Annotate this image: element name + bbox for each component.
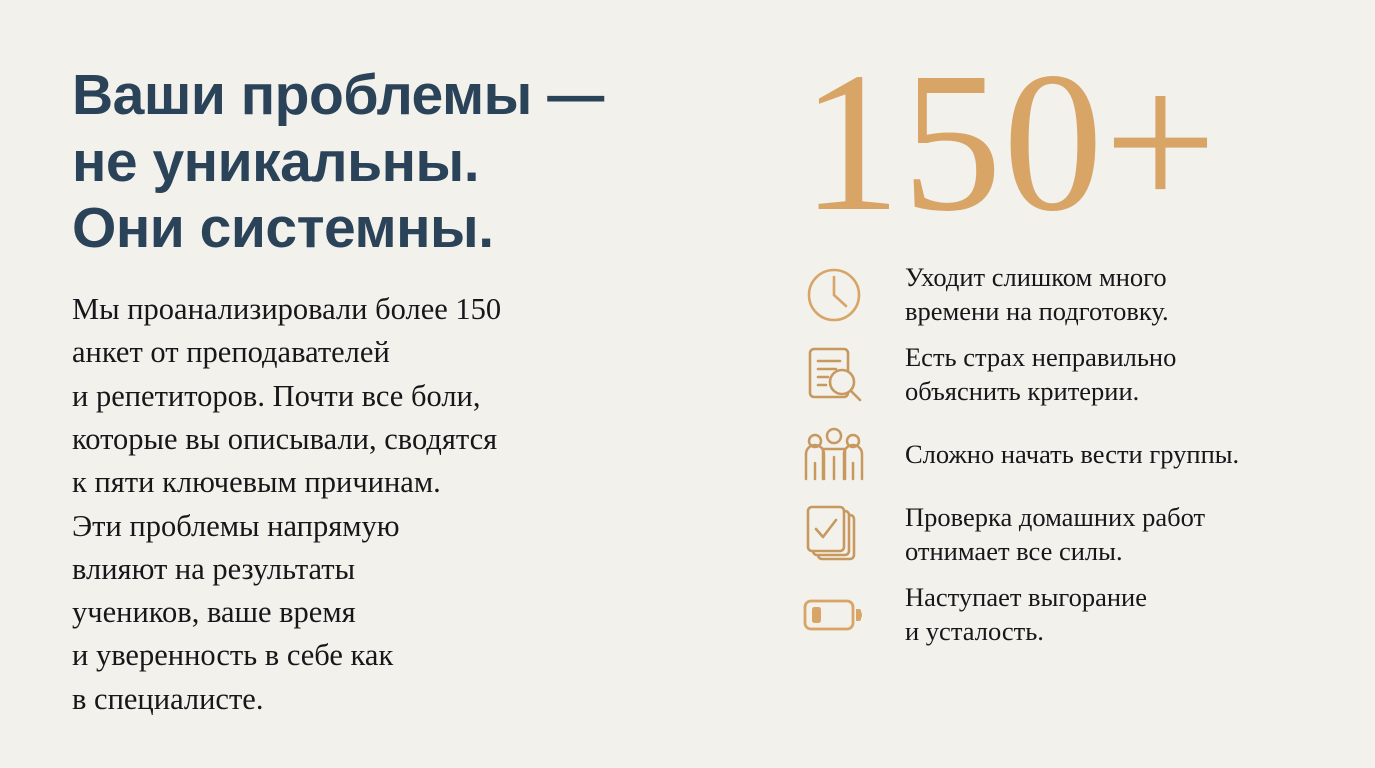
checked-papers-icon: [795, 502, 873, 568]
list-item-label: Наступает выгорание и усталость.: [873, 581, 1147, 649]
page-title: Ваши проблемы — не уникальны. Они систем…: [72, 62, 692, 262]
pain-points-list: Уходит слишком много времени на подготов…: [795, 238, 1335, 652]
document-search-icon: [795, 342, 873, 408]
low-battery-icon: [795, 582, 873, 648]
list-item-label: Уходит слишком много времени на подготов…: [873, 261, 1169, 329]
intro-paragraph: Мы проанализировали более 150 анкет от п…: [72, 262, 692, 721]
clock-icon: [795, 262, 873, 328]
list-item: Сложно начать вести группы.: [795, 418, 1335, 492]
slide-canvas: Ваши проблемы — не уникальны. Они систем…: [0, 0, 1375, 768]
right-column: 150+ Уходит слишком много времени на под…: [795, 48, 1335, 658]
list-item: Наступает выгорание и усталость.: [795, 578, 1335, 652]
left-column: Ваши проблемы — не уникальны. Они систем…: [72, 62, 692, 721]
list-item-label: Есть страх неправильно объяснить критери…: [873, 341, 1176, 409]
list-item-label: Сложно начать вести группы.: [873, 438, 1239, 472]
list-item: Есть страх неправильно объяснить критери…: [795, 338, 1335, 412]
group-people-icon: [795, 422, 873, 488]
list-item: Проверка домашних работ отнимает все сил…: [795, 498, 1335, 572]
stat-number: 150+: [795, 48, 1335, 238]
list-item: Уходит слишком много времени на подготов…: [795, 258, 1335, 332]
list-item-label: Проверка домашних работ отнимает все сил…: [873, 501, 1205, 569]
